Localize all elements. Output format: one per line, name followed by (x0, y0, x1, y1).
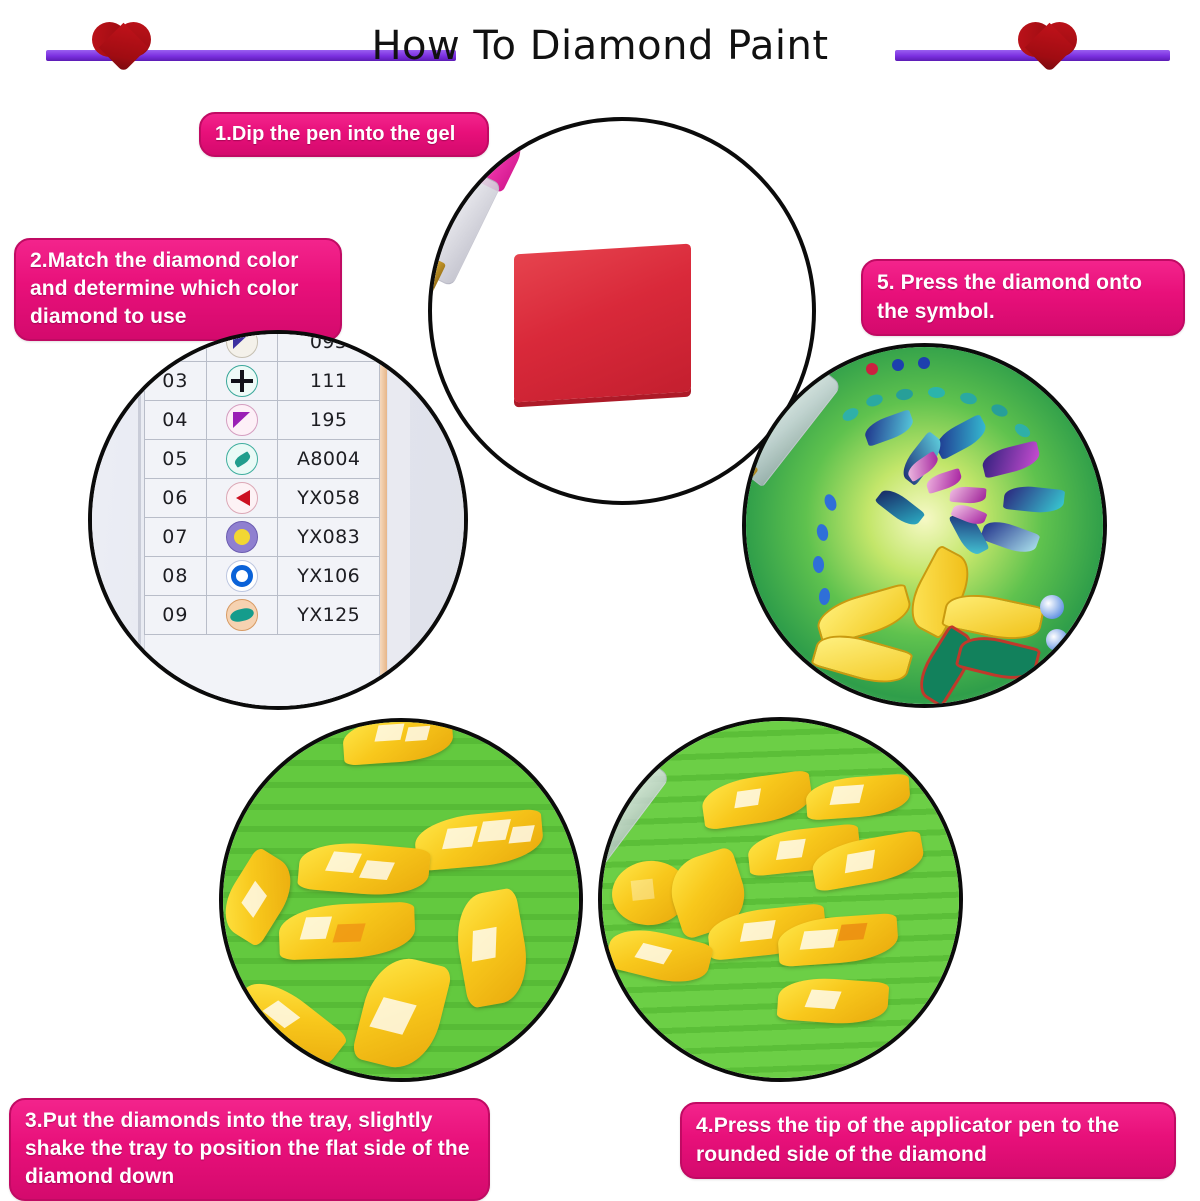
mandala-canvas (746, 347, 1103, 704)
chart-cell-no: 05 (145, 440, 207, 479)
step-5-image (742, 343, 1107, 708)
step-3-image (219, 718, 583, 1082)
table-row: 07 YX083 (145, 518, 380, 557)
color-chart-table: 02 093 03 111 04 195 05 (144, 330, 380, 635)
leaf-symbol (206, 440, 278, 479)
color-chart-photo: 02 093 03 111 04 195 05 (92, 334, 464, 706)
inverted-triangle-symbol (206, 401, 278, 440)
diamond-tray (602, 721, 959, 1078)
step-4-image (598, 717, 963, 1082)
chart-cell-code: 195 (278, 401, 380, 440)
chart-cell-code: YX106 (278, 557, 380, 596)
step-4-label: 4.Press the tip of the applicator pen to… (680, 1102, 1176, 1179)
chart-cell-no: 09 (145, 596, 207, 635)
table-row: 04 195 (145, 401, 380, 440)
chart-cell-code: 111 (278, 362, 380, 401)
chart-cell-no: 03 (145, 362, 207, 401)
table-row: 06 YX058 (145, 479, 380, 518)
chart-cell-no: 07 (145, 518, 207, 557)
step-1-label: 1.Dip the pen into the gel (199, 112, 489, 157)
step-3-label: 3.Put the diamonds into the tray, slight… (9, 1098, 490, 1201)
chart-cell-code: YX058 (278, 479, 380, 518)
chart-cell-no: 04 (145, 401, 207, 440)
applicator-pen-icon (742, 352, 844, 541)
table-row: 05 A8004 (145, 440, 380, 479)
step-2-image: 02 093 03 111 04 195 05 (88, 330, 468, 710)
table-row: 03 111 (145, 362, 380, 401)
chart-cell-code: A8004 (278, 440, 380, 479)
triangle-symbol (206, 330, 278, 362)
filled-dot-symbol (206, 518, 278, 557)
chart-cell-no: 08 (145, 557, 207, 596)
chart-cell-no: 06 (145, 479, 207, 518)
chart-cell-no: 02 (145, 330, 207, 362)
arrow-symbol (206, 479, 278, 518)
table-row: 09 YX125 (145, 596, 380, 635)
page-title: How To Diamond Paint (300, 22, 900, 70)
table-row: 02 093 (145, 330, 380, 362)
heart-icon (1018, 20, 1080, 78)
step-2-label: 2.Match the diamond color and determine … (14, 238, 342, 341)
diamond-tray (223, 722, 579, 1078)
chart-cell-code: 093 (278, 330, 380, 362)
chart-cell-code: YX083 (278, 518, 380, 557)
infographic-canvas: How To Diamond Paint 1.Dip the pen into … (0, 0, 1200, 1200)
eye-symbol (206, 596, 278, 635)
chart-cell-code: YX125 (278, 596, 380, 635)
table-row: 08 YX106 (145, 557, 380, 596)
gel-pad (514, 244, 691, 403)
ring-symbol (206, 557, 278, 596)
plus-symbol (206, 362, 278, 401)
step-5-label: 5. Press the diamond onto the symbol. (861, 259, 1185, 336)
heart-icon (92, 20, 154, 78)
